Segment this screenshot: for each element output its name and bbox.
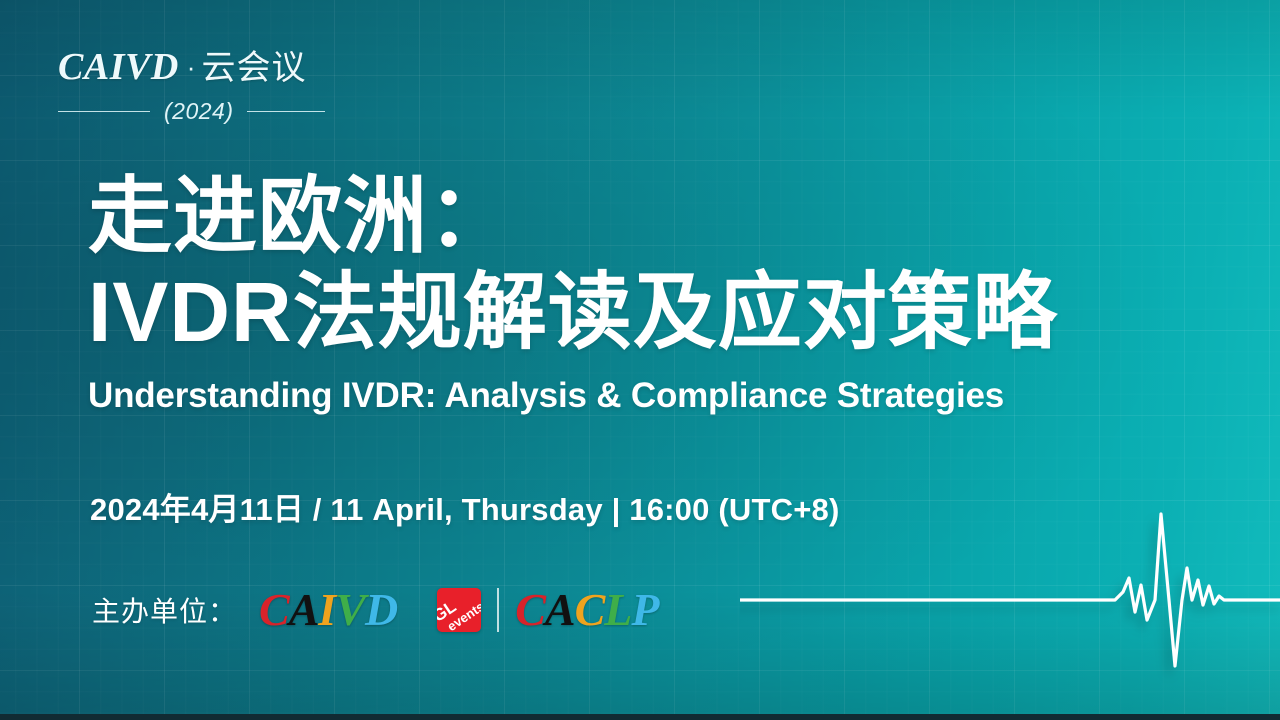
year-rule-left xyxy=(58,111,150,112)
caivd-letter-v: V xyxy=(335,584,365,635)
header-logo-chinese: 云会议 xyxy=(201,40,306,89)
page-subtitle: Understanding IVDR: Analysis & Complianc… xyxy=(88,374,1228,418)
year-rule-right xyxy=(247,111,325,112)
header-logo-year-row: (2024) xyxy=(58,98,358,125)
caclp-letter-c1: C xyxy=(515,584,545,635)
webinar-poster: CAIVD · 云会议 (2024) 走进欧洲： IVDR法规解读及应对策略 U… xyxy=(0,0,1280,720)
ecg-heartbeat-line xyxy=(740,500,1280,720)
header-logo-year: (2024) xyxy=(164,98,233,125)
caclp-letter-p: P xyxy=(631,584,658,635)
caivd-letter-d: D xyxy=(365,584,397,635)
caclp-letter-a: A xyxy=(545,584,575,635)
page-title-line2: IVDR法规解读及应对策略 xyxy=(88,264,1228,360)
header-logo: CAIVD · 云会议 (2024) xyxy=(58,40,358,125)
header-logo-caivd: CAIVD xyxy=(58,45,179,89)
caivd-logo: CAIVD xyxy=(259,587,397,633)
title-block: 走进欧洲： IVDR法规解读及应对策略 Understanding IVDR: … xyxy=(88,168,1228,418)
organizer-row: 主办单位： CAIVD GL events CACLP xyxy=(92,578,659,642)
page-title-line1: 走进欧洲： xyxy=(88,168,1228,264)
caivd-letter-a: A xyxy=(289,584,319,635)
header-logo-separator: · xyxy=(187,52,196,83)
gl-events-logo: GL events xyxy=(437,588,481,632)
header-logo-wordmark: CAIVD · 云会议 xyxy=(58,40,358,89)
caclp-logo: CACLP xyxy=(515,587,658,633)
bottom-bar xyxy=(0,714,1280,720)
caivd-letter-c: C xyxy=(259,584,289,635)
logo-divider xyxy=(497,588,499,632)
caclp-letter-l: L xyxy=(604,584,631,635)
caclp-letter-c2: C xyxy=(575,584,605,635)
organizer-label: 主办单位： xyxy=(92,590,237,630)
event-datetime: 2024年4月11日 / 11 April, Thursday | 16:00 … xyxy=(90,484,839,529)
gl-events-caclp-group: GL events CACLP xyxy=(437,587,658,633)
caivd-letter-i: I xyxy=(318,584,335,635)
gl-events-logo-text: GL events xyxy=(437,588,481,632)
